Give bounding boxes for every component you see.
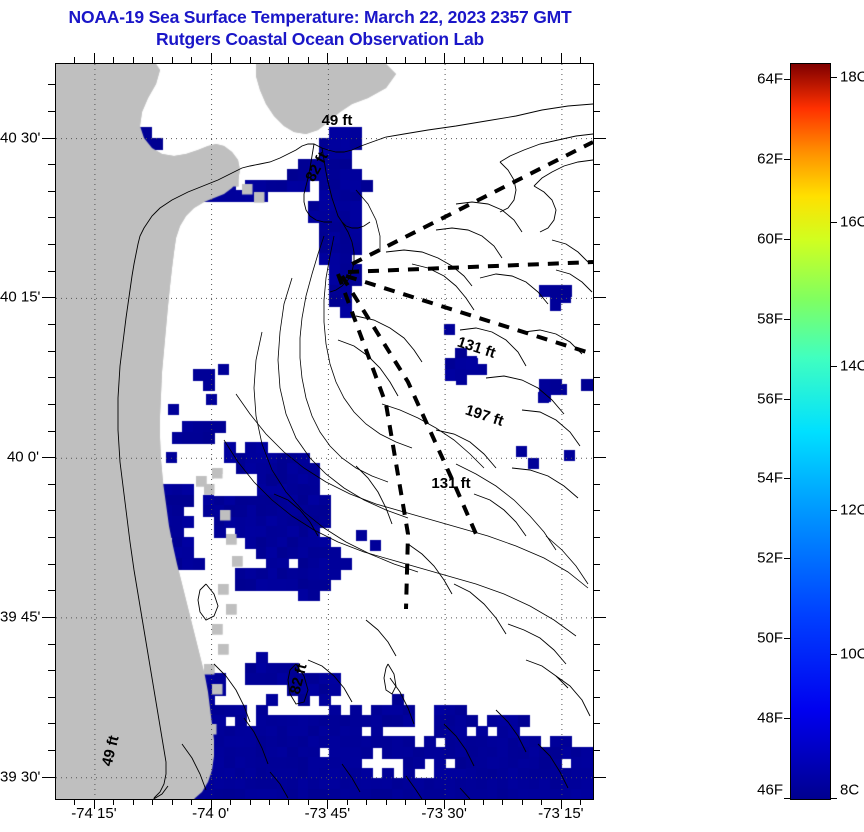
y-major-tick-right	[593, 297, 606, 298]
x-minor-tick-top	[580, 57, 581, 63]
x-minor-tick-top	[250, 57, 251, 63]
colorbar-tick-f	[784, 718, 790, 719]
x-minor-tick-top	[347, 57, 348, 63]
colorbar[interactable]	[790, 63, 831, 800]
y-major-tick	[42, 777, 55, 778]
y-minor-tick	[48, 244, 55, 245]
x-minor-tick	[269, 799, 270, 805]
x-axis-label: -74 15'	[71, 805, 116, 822]
y-minor-tick	[48, 537, 55, 538]
colorbar-tick-c	[831, 654, 837, 655]
coastline-segment	[460, 788, 470, 799]
y-minor-tick	[48, 351, 55, 352]
coastline-segment	[182, 744, 206, 790]
coastline-layer	[118, 104, 593, 799]
coastline-segment	[444, 724, 474, 766]
colorbar-label-f: 48F	[735, 710, 783, 727]
y-minor-tick-right	[593, 244, 600, 245]
colorbar-label-c: 14C	[840, 357, 864, 374]
x-minor-tick	[250, 799, 251, 805]
colorbar-tick-c	[831, 77, 837, 78]
y-minor-tick-right	[593, 484, 600, 485]
bathymetry-contour	[324, 236, 412, 448]
y-minor-tick-right	[593, 670, 600, 671]
y-major-tick	[42, 297, 55, 298]
x-minor-tick	[288, 799, 289, 805]
coastline-segment	[198, 584, 218, 620]
y-major-tick	[42, 457, 55, 458]
x-minor-tick	[502, 799, 503, 805]
coastline-segment	[480, 274, 548, 304]
x-minor-tick	[152, 799, 153, 805]
y-minor-tick-right	[593, 351, 600, 352]
y-minor-tick-right	[593, 164, 600, 165]
y-axis-label: 39 45'	[0, 608, 39, 625]
x-minor-tick	[230, 799, 231, 805]
coastline-segment	[474, 494, 526, 536]
bathymetry-contour	[356, 190, 380, 252]
coastline-segment	[118, 104, 593, 798]
y-minor-tick-right	[593, 510, 600, 511]
coastline-segment	[366, 620, 396, 656]
coastline-segment	[496, 710, 526, 752]
x-minor-tick-top	[288, 57, 289, 63]
coastline-segment	[552, 240, 588, 262]
coastline-segment	[406, 776, 422, 799]
colorbar-tick-f	[784, 798, 790, 799]
colorbar-tick-f	[784, 79, 790, 80]
coastline-segment	[214, 664, 250, 722]
y-minor-tick	[48, 590, 55, 591]
y-major-tick	[42, 617, 55, 618]
colorbar-tick-c	[831, 366, 837, 367]
y-minor-tick-right	[593, 431, 600, 432]
coastline-segment	[534, 160, 593, 186]
y-major-tick-right	[593, 457, 606, 458]
transect-line	[352, 142, 593, 264]
y-minor-tick	[48, 697, 55, 698]
contour-label: 49 ft	[322, 112, 353, 129]
y-minor-tick	[48, 750, 55, 751]
x-axis-label: -74 0'	[192, 805, 229, 822]
x-minor-tick-top	[230, 57, 231, 63]
colorbar-tick-f	[784, 399, 790, 400]
contour-label: 82 ft	[287, 662, 311, 696]
coastline-segment	[556, 270, 592, 292]
map-canvas-wrapper: 49 ft82 ft131 ft197 ft131 ft82 ft49 ft	[56, 64, 593, 799]
colorbar-label-c: 8C	[840, 782, 859, 799]
contour-label: 49 ft	[99, 734, 123, 768]
y-minor-tick	[48, 510, 55, 511]
colorbar-label-f: 46F	[735, 782, 783, 799]
contour-label: 197 ft	[463, 402, 506, 430]
y-minor-tick-right	[593, 697, 600, 698]
y-minor-tick-right	[593, 537, 600, 538]
y-minor-tick	[48, 404, 55, 405]
screenshot-root: NOAA-19 Sea Surface Temperature: March 2…	[0, 0, 864, 832]
bathymetry-contour	[236, 394, 588, 588]
coastline-segment	[524, 330, 582, 354]
contour-label: 131 ft	[455, 334, 498, 362]
x-minor-tick-top	[172, 57, 173, 63]
y-axis-label: 39 30'	[0, 768, 39, 785]
coastline-segment	[512, 468, 578, 498]
y-axis-label: 40 0'	[0, 449, 39, 466]
map-vector-layer: 49 ft82 ft131 ft197 ft131 ft82 ft49 ft	[56, 64, 593, 799]
x-axis-label: -73 15'	[538, 805, 583, 822]
x-minor-tick	[483, 799, 484, 805]
x-minor-tick-top	[483, 57, 484, 63]
x-major-tick-top	[444, 53, 445, 63]
colorbar-tick-c	[831, 510, 837, 511]
y-minor-tick	[48, 217, 55, 218]
y-minor-tick	[48, 271, 55, 272]
y-minor-tick	[48, 377, 55, 378]
coastline-segment	[308, 660, 352, 702]
colorbar-label-f: 50F	[735, 630, 783, 647]
colorbar-tick-f	[784, 239, 790, 240]
x-major-tick-top	[561, 53, 562, 63]
x-minor-tick	[366, 799, 367, 805]
figure-title: NOAA-19 Sea Surface Temperature: March 2…	[0, 6, 640, 50]
bathymetry-contour	[278, 278, 408, 518]
colorbar-tick-f	[784, 638, 790, 639]
x-minor-tick-top	[425, 57, 426, 63]
colorbar-label-c: 12C	[840, 501, 864, 518]
x-minor-tick	[522, 799, 523, 805]
y-minor-tick-right	[593, 271, 600, 272]
colorbar-tick-f	[784, 159, 790, 160]
colorbar-gradient	[791, 64, 830, 799]
coastline-segment	[454, 584, 506, 634]
y-major-tick-right	[593, 138, 606, 139]
y-minor-tick	[48, 191, 55, 192]
y-minor-tick	[48, 431, 55, 432]
x-minor-tick-top	[269, 57, 270, 63]
y-minor-tick-right	[593, 84, 600, 85]
colorbar-label-f: 62F	[735, 150, 783, 167]
y-minor-tick-right	[593, 111, 600, 112]
colorbar-label-c: 18C	[840, 69, 864, 86]
title-line-1: NOAA-19 Sea Surface Temperature: March 2…	[0, 6, 640, 28]
y-minor-tick-right	[593, 750, 600, 751]
y-minor-tick-right	[593, 191, 600, 192]
colorbar-tick-f	[784, 319, 790, 320]
x-minor-tick-top	[308, 57, 309, 63]
x-minor-tick	[386, 799, 387, 805]
x-minor-tick-top	[133, 57, 134, 63]
x-minor-tick	[172, 799, 173, 805]
y-minor-tick	[48, 723, 55, 724]
colorbar-label-c: 10C	[840, 645, 864, 662]
x-minor-tick-top	[152, 57, 153, 63]
transect-line	[342, 276, 476, 534]
coastline-segment	[412, 264, 474, 310]
y-major-tick	[42, 138, 55, 139]
colorbar-label-f: 60F	[735, 230, 783, 247]
x-minor-tick	[133, 799, 134, 805]
colorbar-label-f: 64F	[735, 70, 783, 87]
y-minor-tick	[48, 484, 55, 485]
y-minor-tick	[48, 670, 55, 671]
colorbar-tick-c	[831, 222, 837, 223]
y-major-tick-right	[593, 617, 606, 618]
colorbar-tick-f	[784, 478, 790, 479]
title-line-2: Rutgers Coastal Ocean Observation Lab	[0, 28, 640, 50]
coastline-segment	[522, 410, 580, 446]
x-minor-tick-top	[464, 57, 465, 63]
x-minor-tick-top	[191, 57, 192, 63]
colorbar-label-c: 16C	[840, 213, 864, 230]
x-minor-tick-top	[113, 57, 114, 63]
y-minor-tick	[48, 324, 55, 325]
y-minor-tick-right	[593, 324, 600, 325]
coastline-segment	[274, 494, 318, 536]
transect-line	[338, 274, 408, 609]
y-minor-tick	[48, 164, 55, 165]
x-minor-tick-top	[522, 57, 523, 63]
map-plot-area[interactable]: 49 ft82 ft131 ft197 ft131 ft82 ft49 ft	[55, 63, 594, 800]
y-minor-tick-right	[593, 564, 600, 565]
x-major-tick-top	[327, 53, 328, 63]
coastline-segment	[436, 228, 502, 258]
bathymetry-contour	[456, 464, 556, 550]
transect-lines	[338, 142, 593, 609]
colorbar-tick-c	[831, 798, 837, 799]
x-minor-tick-top	[366, 57, 367, 63]
y-minor-tick	[48, 644, 55, 645]
colorbar-label-f: 54F	[735, 470, 783, 487]
y-axis-label: 40 15'	[0, 289, 39, 306]
x-minor-tick-top	[405, 57, 406, 63]
bathymetry-contour	[546, 536, 588, 584]
y-major-tick-right	[593, 777, 606, 778]
coastline-segment	[556, 676, 590, 716]
contour-label: 131 ft	[431, 475, 470, 492]
y-minor-tick-right	[593, 723, 600, 724]
colorbar-tick-f	[784, 558, 790, 559]
coastline-segment	[538, 744, 568, 788]
coastline-segment	[384, 664, 396, 694]
y-minor-tick-right	[593, 644, 600, 645]
x-minor-tick-top	[74, 57, 75, 63]
y-axis-label: 40 30'	[0, 129, 39, 146]
y-minor-tick	[48, 564, 55, 565]
y-minor-tick-right	[593, 590, 600, 591]
x-axis-label: -73 30'	[421, 805, 466, 822]
coastline-segment	[356, 466, 392, 524]
x-minor-tick-top	[386, 57, 387, 63]
coastline-segment	[486, 376, 564, 414]
x-axis-label: -73 45'	[305, 805, 350, 822]
colorbar-label-f: 56F	[735, 390, 783, 407]
y-minor-tick-right	[593, 377, 600, 378]
y-minor-tick-right	[593, 404, 600, 405]
y-minor-tick	[48, 84, 55, 85]
x-minor-tick-top	[541, 57, 542, 63]
coastline-segment	[390, 678, 414, 724]
x-minor-tick	[405, 799, 406, 805]
y-minor-tick-right	[593, 217, 600, 218]
colorbar-label-f: 58F	[735, 310, 783, 327]
y-minor-tick	[48, 111, 55, 112]
coastline-segment	[244, 718, 268, 764]
x-major-tick-top	[94, 53, 95, 63]
coastline-segment	[270, 772, 288, 798]
coastline-segment	[508, 624, 566, 664]
colorbar-label-f: 52F	[735, 550, 783, 567]
x-minor-tick-top	[502, 57, 503, 63]
coastline-segment	[534, 186, 556, 232]
graticule-grid	[56, 64, 593, 799]
x-major-tick-top	[211, 53, 212, 63]
